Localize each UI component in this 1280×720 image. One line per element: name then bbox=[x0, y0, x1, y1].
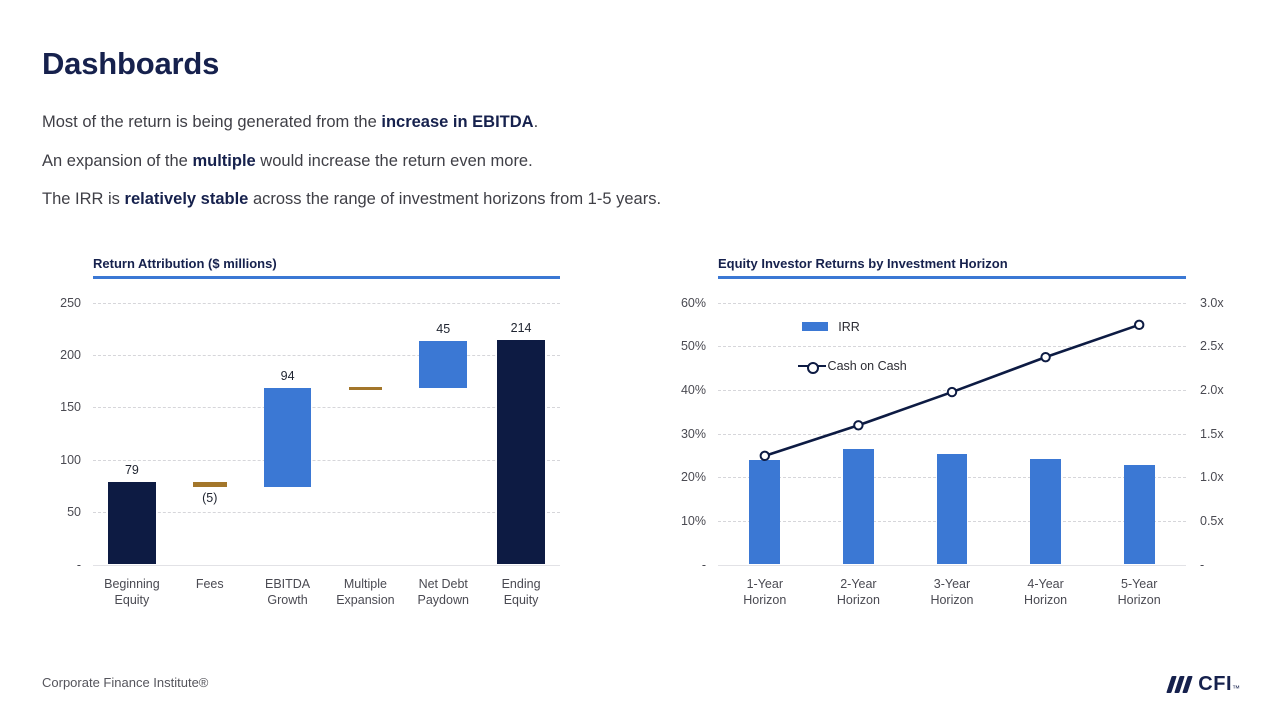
y-axis-tick-label: 250 bbox=[60, 296, 93, 310]
legend-label-irr: IRR bbox=[838, 320, 860, 334]
bar-value-label: (5) bbox=[202, 491, 217, 505]
bullet-1-post: . bbox=[534, 113, 539, 131]
combo-plot-area: -10%20%30%40%50%60%-0.5x1.0x1.5x2.0x2.5x… bbox=[718, 303, 1186, 653]
gridline-y bbox=[93, 303, 560, 304]
bar-value-label: 214 bbox=[511, 321, 532, 335]
waterfall-bar bbox=[497, 340, 545, 564]
gridline-y bbox=[93, 460, 560, 461]
gridline-y bbox=[93, 407, 560, 408]
y-axis-right-tick-label: 1.0x bbox=[1186, 470, 1224, 484]
y-axis-left-tick-label: 10% bbox=[681, 514, 718, 528]
cash-on-cash-marker bbox=[948, 387, 956, 395]
bar-value-label: 79 bbox=[125, 463, 139, 477]
y-axis-tick-label: 100 bbox=[60, 453, 93, 467]
bar-value-label: 94 bbox=[281, 369, 295, 383]
legend-item-cash-on-cash: Cash on Cash bbox=[798, 359, 907, 373]
cfi-logo-trademark: ™ bbox=[1232, 684, 1240, 696]
bullet-list: Most of the return is being generated fr… bbox=[42, 110, 1142, 226]
chart-panel-return-attribution: Return Attribution ($ millions) -5010015… bbox=[93, 256, 560, 653]
waterfall-bar bbox=[419, 341, 467, 388]
x-axis-category-label: 3-Year Horizon bbox=[905, 576, 999, 610]
x-axis-category-label: 4-Year Horizon bbox=[999, 576, 1093, 610]
legend-swatch-irr bbox=[802, 322, 828, 331]
y-axis-right-tick-label: 0.5x bbox=[1186, 514, 1224, 528]
bullet-2-pre: An expansion of the bbox=[42, 152, 192, 170]
bullet-2-bold: multiple bbox=[192, 152, 255, 170]
y-axis-left-tick-label: 60% bbox=[681, 296, 718, 310]
page-title: Dashboards bbox=[42, 46, 219, 82]
x-axis-category-label: Net Debt Paydown bbox=[404, 576, 482, 610]
cash-on-cash-line-series bbox=[718, 303, 1186, 569]
cash-on-cash-marker bbox=[761, 451, 769, 459]
x-axis-baseline bbox=[93, 565, 560, 566]
y-axis-tick-label: - bbox=[77, 558, 93, 572]
legend-label-cash-on-cash: Cash on Cash bbox=[828, 359, 907, 373]
bullet-1-pre: Most of the return is being generated fr… bbox=[42, 113, 381, 131]
waterfall-bar bbox=[349, 387, 383, 391]
x-axis-category-label: Beginning Equity bbox=[93, 576, 171, 610]
y-axis-tick-label: 50 bbox=[67, 505, 93, 519]
bullet-3-bold: relatively stable bbox=[125, 190, 249, 208]
chart-title-rule-right bbox=[718, 276, 1186, 279]
y-axis-left-tick-label: 50% bbox=[681, 339, 718, 353]
gridline-y bbox=[93, 512, 560, 513]
x-axis-category-label: Fees bbox=[171, 576, 249, 593]
waterfall-bar bbox=[193, 482, 227, 487]
bullet-3-post: across the range of investment horizons … bbox=[248, 190, 661, 208]
bullet-1-bold: increase in EBITDA bbox=[381, 113, 533, 131]
y-axis-left-tick-label: 40% bbox=[681, 383, 718, 397]
x-axis-category-label: 5-Year Horizon bbox=[1092, 576, 1186, 610]
x-axis-category-label: Ending Equity bbox=[482, 576, 560, 610]
cash-on-cash-marker bbox=[1135, 320, 1143, 328]
waterfall-bar bbox=[108, 482, 156, 565]
chart-title-return-attribution: Return Attribution ($ millions) bbox=[93, 256, 560, 276]
chart-title-rule-left bbox=[93, 276, 560, 279]
x-axis-category-label: Multiple Expansion bbox=[327, 576, 405, 610]
bar-value-label: 45 bbox=[436, 322, 450, 336]
bullet-3-pre: The IRR is bbox=[42, 190, 125, 208]
y-axis-right-tick-label: 1.5x bbox=[1186, 427, 1224, 441]
cfi-logo: CFI ™ bbox=[1169, 672, 1240, 696]
y-axis-right-tick-label: - bbox=[1186, 558, 1204, 572]
cash-on-cash-marker bbox=[1041, 352, 1049, 360]
legend-line-cash-on-cash bbox=[798, 360, 826, 372]
chart-panel-equity-returns: Equity Investor Returns by Investment Ho… bbox=[718, 256, 1186, 653]
x-axis-category-label: 1-Year Horizon bbox=[718, 576, 812, 610]
bullet-3: The IRR is relatively stable across the … bbox=[42, 187, 1142, 213]
y-axis-left-tick-label: 30% bbox=[681, 427, 718, 441]
y-axis-right-tick-label: 3.0x bbox=[1186, 296, 1224, 310]
y-axis-left-tick-label: - bbox=[702, 558, 718, 572]
waterfall-bar bbox=[264, 388, 312, 487]
y-axis-tick-label: 200 bbox=[60, 348, 93, 362]
waterfall-plot-area: -5010015020025079Beginning Equity(5)Fees… bbox=[93, 303, 560, 653]
x-axis-category-label: 2-Year Horizon bbox=[812, 576, 906, 610]
cfi-logo-text: CFI bbox=[1198, 673, 1232, 696]
y-axis-left-tick-label: 20% bbox=[681, 470, 718, 484]
footer-attribution: Corporate Finance Institute® bbox=[42, 675, 208, 690]
legend-item-irr: IRR bbox=[802, 320, 860, 334]
bullet-2-post: would increase the return even more. bbox=[256, 152, 533, 170]
y-axis-right-tick-label: 2.5x bbox=[1186, 339, 1224, 353]
slide: Dashboards Most of the return is being g… bbox=[0, 0, 1280, 720]
bullet-2: An expansion of the multiple would incre… bbox=[42, 149, 1142, 175]
cash-on-cash-marker bbox=[854, 421, 862, 429]
gridline-y bbox=[93, 355, 560, 356]
cfi-logo-slashes-icon bbox=[1169, 676, 1193, 693]
y-axis-tick-label: 150 bbox=[60, 400, 93, 414]
bullet-1: Most of the return is being generated fr… bbox=[42, 110, 1142, 136]
y-axis-right-tick-label: 2.0x bbox=[1186, 383, 1224, 397]
x-axis-category-label: EBITDA Growth bbox=[249, 576, 327, 610]
chart-title-equity-returns: Equity Investor Returns by Investment Ho… bbox=[718, 256, 1186, 276]
